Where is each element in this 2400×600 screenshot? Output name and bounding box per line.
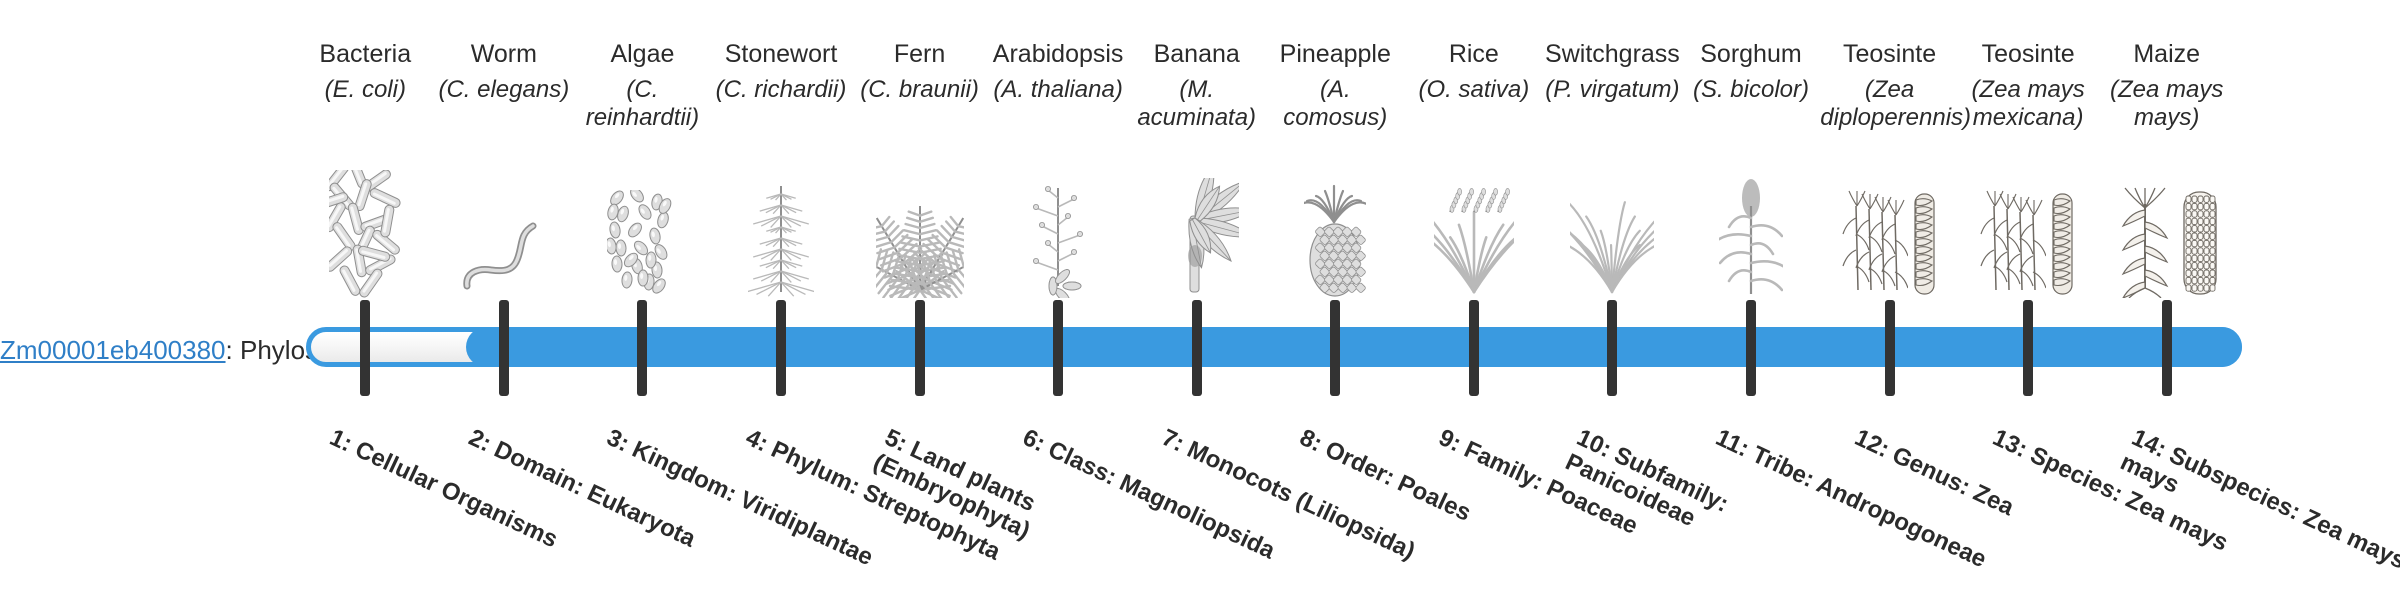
arabidopsis-plant-icon xyxy=(989,168,1128,298)
gene-phylostratum-label: Zm00001eb400380: Phylostratum 2 xyxy=(0,335,290,365)
banana-tree-icon xyxy=(1127,168,1266,298)
phylostratum-tick[interactable] xyxy=(360,300,370,396)
rice-plant-icon xyxy=(1405,168,1544,298)
pineapple-fruit-icon xyxy=(1266,168,1405,298)
phylostratum-tick[interactable] xyxy=(1885,300,1895,396)
bacteria-rods-icon xyxy=(296,168,435,298)
phylostratum-tick[interactable] xyxy=(637,300,647,396)
species-scientific-name: (M. acuminata) xyxy=(1127,76,1266,132)
species-column: Bacteria(E. coli) xyxy=(296,0,435,580)
species-scientific-name: (O. sativa) xyxy=(1405,76,1544,104)
species-scientific-name: (A. thaliana) xyxy=(989,76,1128,104)
species-common-name: Pineapple xyxy=(1266,40,1405,69)
sorghum-plant-icon xyxy=(1682,168,1821,298)
phylostratum-tick[interactable] xyxy=(1192,300,1202,396)
green-algae-cells-icon xyxy=(573,168,712,298)
species-common-name: Fern xyxy=(850,40,989,69)
gene-label-separator: : xyxy=(226,335,240,365)
phylostratum-tick[interactable] xyxy=(2162,300,2172,396)
teosinte-mexicana-plant-and-ear-icon xyxy=(1959,168,2098,298)
switchgrass-clump-icon xyxy=(1543,168,1682,298)
species-scientific-name: (A. comosus) xyxy=(1266,76,1405,132)
stonewort-alga-icon xyxy=(712,168,851,298)
species-scientific-name: (C. elegans) xyxy=(435,76,574,104)
species-common-name: Sorghum xyxy=(1682,40,1821,69)
species-common-name: Banana xyxy=(1127,40,1266,69)
species-scientific-name: (Zea diploperennis) xyxy=(1820,76,1959,132)
phylostratigraphy-figure: Zm00001eb400380: Phylostratum 2 Bacteria… xyxy=(0,0,2400,580)
nematode-worm-icon xyxy=(435,168,574,298)
phylostratum-tick[interactable] xyxy=(1607,300,1617,396)
fern-frond-icon xyxy=(850,168,989,298)
phylostratum-bar-fill xyxy=(466,327,2242,367)
phylostratum-tick[interactable] xyxy=(2023,300,2033,396)
phylostratum-tick[interactable] xyxy=(1330,300,1340,396)
species-common-name: Maize xyxy=(2097,40,2236,69)
species-scientific-name: (C. reinhardtii) xyxy=(573,76,712,132)
species-scientific-name: (E. coli) xyxy=(296,76,435,104)
species-common-name: Algae xyxy=(573,40,712,69)
teosinte-plant-and-ear-icon xyxy=(1820,168,1959,298)
phylostratum-tick[interactable] xyxy=(915,300,925,396)
species-common-name: Worm xyxy=(435,40,574,69)
species-scientific-name: (C. braunii) xyxy=(850,76,989,104)
phylostratum-bar[interactable] xyxy=(306,327,2242,367)
species-scientific-name: (C. richardii) xyxy=(712,76,851,104)
species-common-name: Teosinte xyxy=(1820,40,1959,69)
gene-id-link[interactable]: Zm00001eb400380 xyxy=(0,335,226,365)
phylostratum-tick[interactable] xyxy=(1746,300,1756,396)
phylostratum-tick[interactable] xyxy=(1053,300,1063,396)
maize-plant-and-cob-icon xyxy=(2097,168,2236,298)
phylostratum-tick[interactable] xyxy=(1469,300,1479,396)
species-common-name: Arabidopsis xyxy=(989,40,1128,69)
species-scientific-name: (P. virgatum) xyxy=(1543,76,1682,104)
species-scientific-name: (Zea mays mexicana) xyxy=(1959,76,2098,132)
species-common-name: Switchgrass xyxy=(1543,40,1682,69)
species-scientific-name: (S. bicolor) xyxy=(1682,76,1821,104)
phylostratum-tick[interactable] xyxy=(499,300,509,396)
species-common-name: Teosinte xyxy=(1959,40,2098,69)
species-common-name: Rice xyxy=(1405,40,1544,69)
species-common-name: Bacteria xyxy=(296,40,435,69)
species-common-name: Stonewort xyxy=(712,40,851,69)
phylostratum-tick[interactable] xyxy=(776,300,786,396)
species-scientific-name: (Zea mays mays) xyxy=(2097,76,2236,132)
